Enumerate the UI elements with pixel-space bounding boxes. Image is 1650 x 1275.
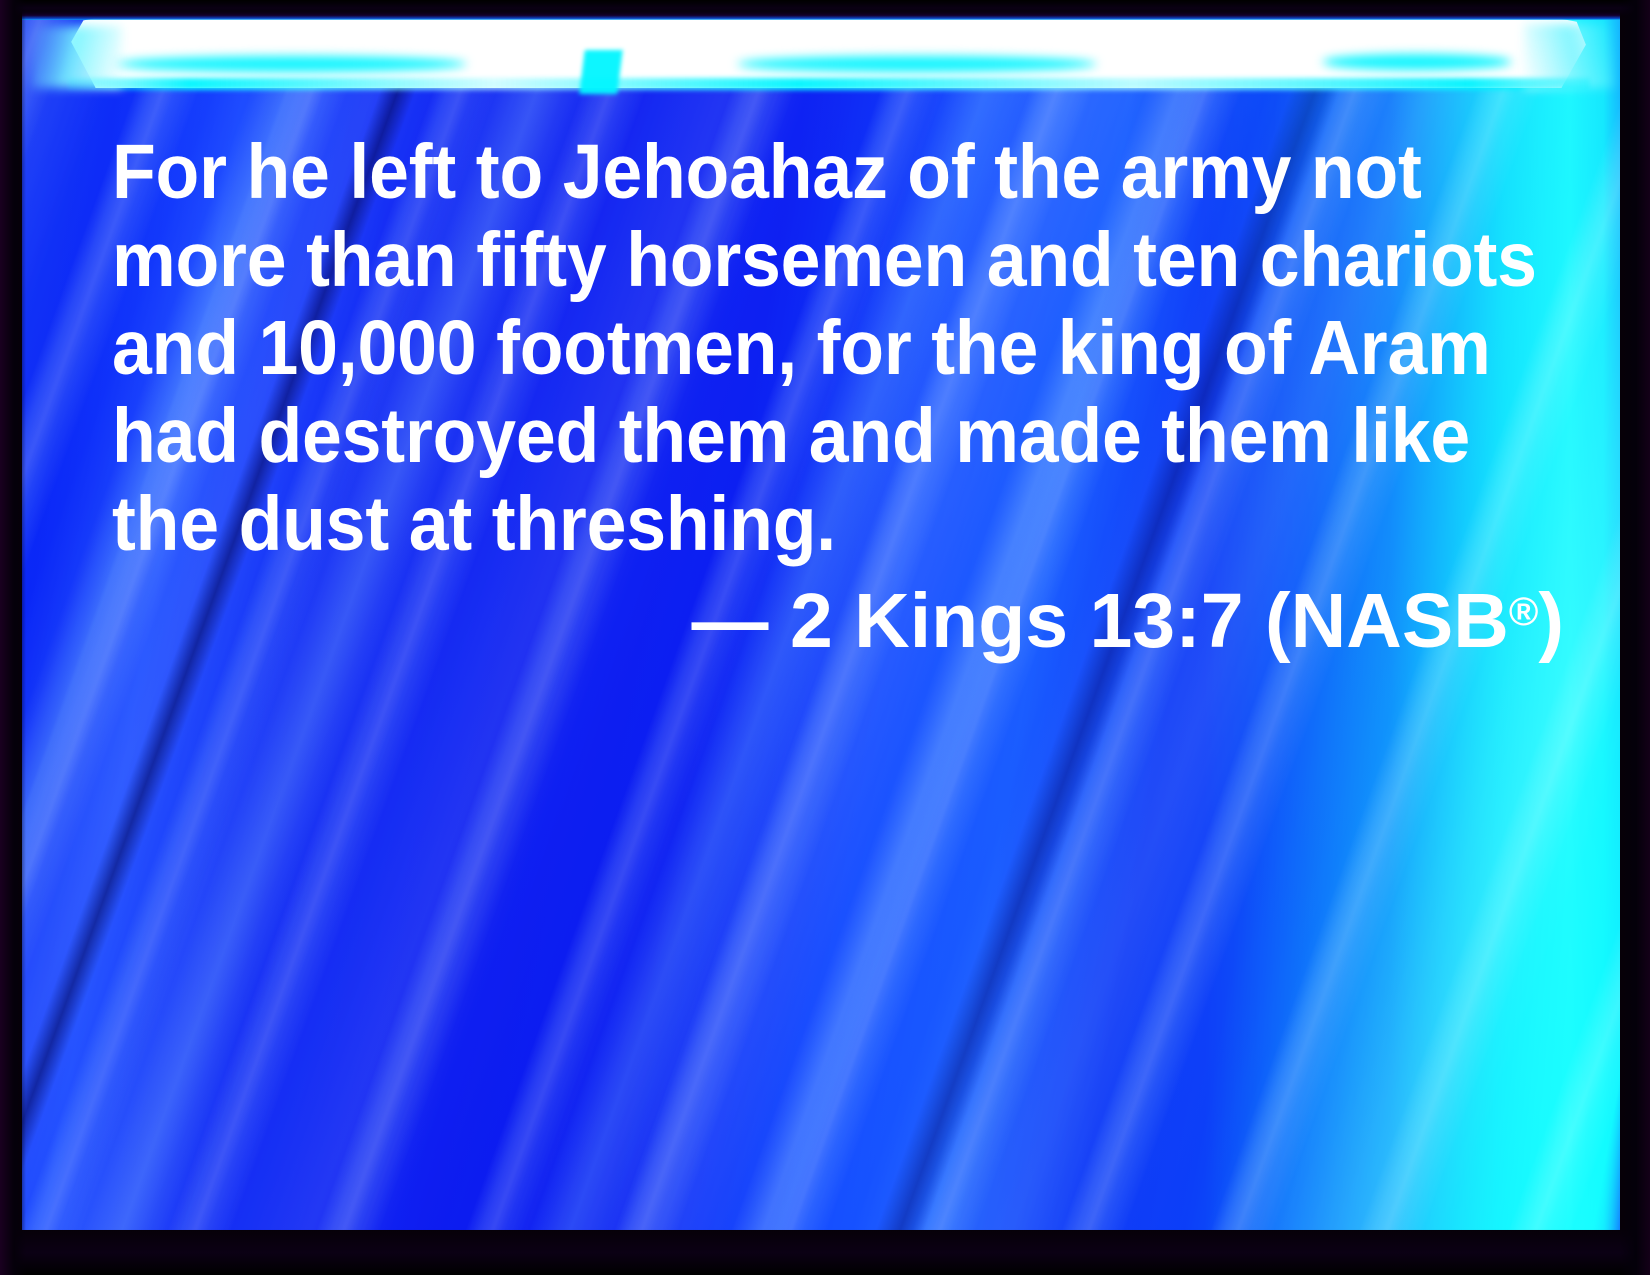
verse-text-block: For he left to Jehoahaz of the army not … [112, 128, 1572, 665]
slide-picture-area: For he left to Jehoahaz of the army not … [22, 10, 1620, 1230]
scripture-slide: For he left to Jehoahaz of the army not … [0, 0, 1650, 1275]
verse-line-5: the dust at threshing. [112, 480, 1470, 568]
attribution-open-paren: ( [1265, 578, 1291, 664]
registered-trademark-icon: ® [1509, 590, 1539, 634]
attribution-spacer-1 [769, 578, 790, 664]
verse-line-1: For he left to Jehoahaz of the army not [112, 128, 1470, 216]
attribution-chapter-verse: 13:7 [1089, 578, 1243, 664]
header-band-cyan-wisp-2 [737, 56, 1097, 72]
header-band-cyan-wisp-1 [117, 56, 467, 72]
attribution-em-dash: — [692, 578, 769, 664]
header-band-cyan-underline [68, 78, 1590, 90]
verse-attribution: — 2 Kings 13:7 (NASB®) [112, 568, 1572, 665]
header-band-cyan-wisp-3 [1322, 54, 1512, 70]
header-band-topline [22, 10, 1620, 20]
attribution-spacer-3 [1244, 578, 1265, 664]
header-light-band [22, 10, 1620, 92]
header-band-cyan-notch [579, 50, 622, 94]
attribution-close-paren: ) [1538, 578, 1564, 664]
verse-line-2: more than fifty horsemen and ten chariot… [112, 216, 1470, 304]
attribution-spacer-2 [1068, 578, 1089, 664]
verse-line-4: had destroyed them and made them like [112, 392, 1470, 480]
verse-line-3: and 10,000 footmen, for the king of Aram [112, 304, 1470, 392]
attribution-book: 2 Kings [790, 578, 1068, 664]
attribution-translation: NASB [1291, 578, 1509, 664]
